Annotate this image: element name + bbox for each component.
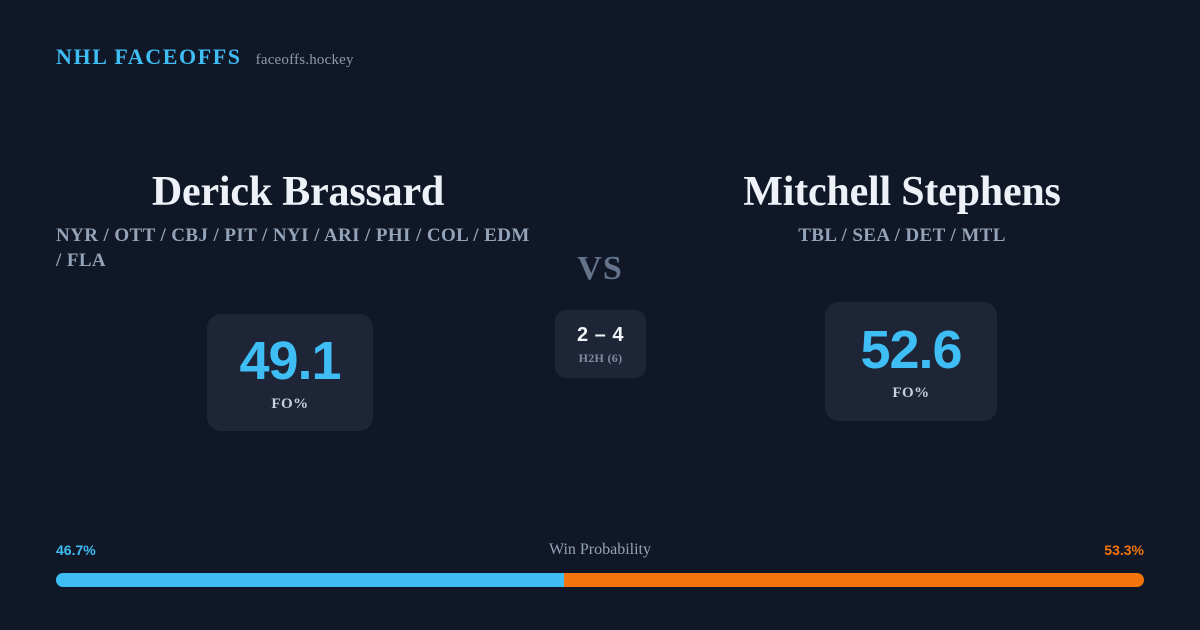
site-domain: faceoffs.hockey bbox=[256, 53, 354, 68]
matchup-graphic: NHL FACEOFFS faceoffs.hockey Derick Bras… bbox=[0, 0, 1200, 630]
win-probability-labels: 46.7% Win Probability 53.3% bbox=[56, 540, 1144, 560]
player-left-teams: NYR / OTT / CBJ / PIT / NYI / ARI / PHI … bbox=[56, 224, 540, 273]
win-probability-right-percent: 53.3% bbox=[1104, 540, 1144, 560]
brand-logo[interactable]: NHL FACEOFFS bbox=[56, 46, 242, 68]
stat-card-right: 52.6 FO% bbox=[825, 302, 997, 421]
player-right-teams: TBL / SEA / DET / MTL bbox=[660, 224, 1144, 248]
head-to-head-label: H2H (6) bbox=[579, 352, 623, 364]
player-left: Derick Brassard NYR / OTT / CBJ / PIT / … bbox=[56, 170, 540, 273]
head-to-head-card: 2 – 4 H2H (6) bbox=[555, 310, 646, 378]
player-right-name[interactable]: Mitchell Stephens bbox=[660, 170, 1144, 215]
win-probability-bar-right bbox=[564, 573, 1144, 587]
head-to-head-score: 2 – 4 bbox=[577, 325, 624, 345]
win-probability-bar bbox=[56, 573, 1144, 587]
player-left-name[interactable]: Derick Brassard bbox=[56, 170, 540, 215]
site-header: NHL FACEOFFS faceoffs.hockey bbox=[56, 46, 354, 68]
stat-card-left: 49.1 FO% bbox=[207, 314, 373, 431]
stat-left-label: FO% bbox=[271, 397, 308, 412]
stat-right-label: FO% bbox=[892, 386, 929, 401]
player-right: Mitchell Stephens TBL / SEA / DET / MTL bbox=[660, 170, 1144, 249]
win-probability-title: Win Probability bbox=[56, 540, 1144, 560]
vs-label: VS bbox=[540, 252, 660, 286]
win-probability-bar-left bbox=[56, 573, 564, 587]
stat-right-value: 52.6 bbox=[860, 323, 961, 377]
win-probability-section: 46.7% Win Probability 53.3% bbox=[56, 540, 1144, 587]
stat-left-value: 49.1 bbox=[239, 334, 340, 388]
